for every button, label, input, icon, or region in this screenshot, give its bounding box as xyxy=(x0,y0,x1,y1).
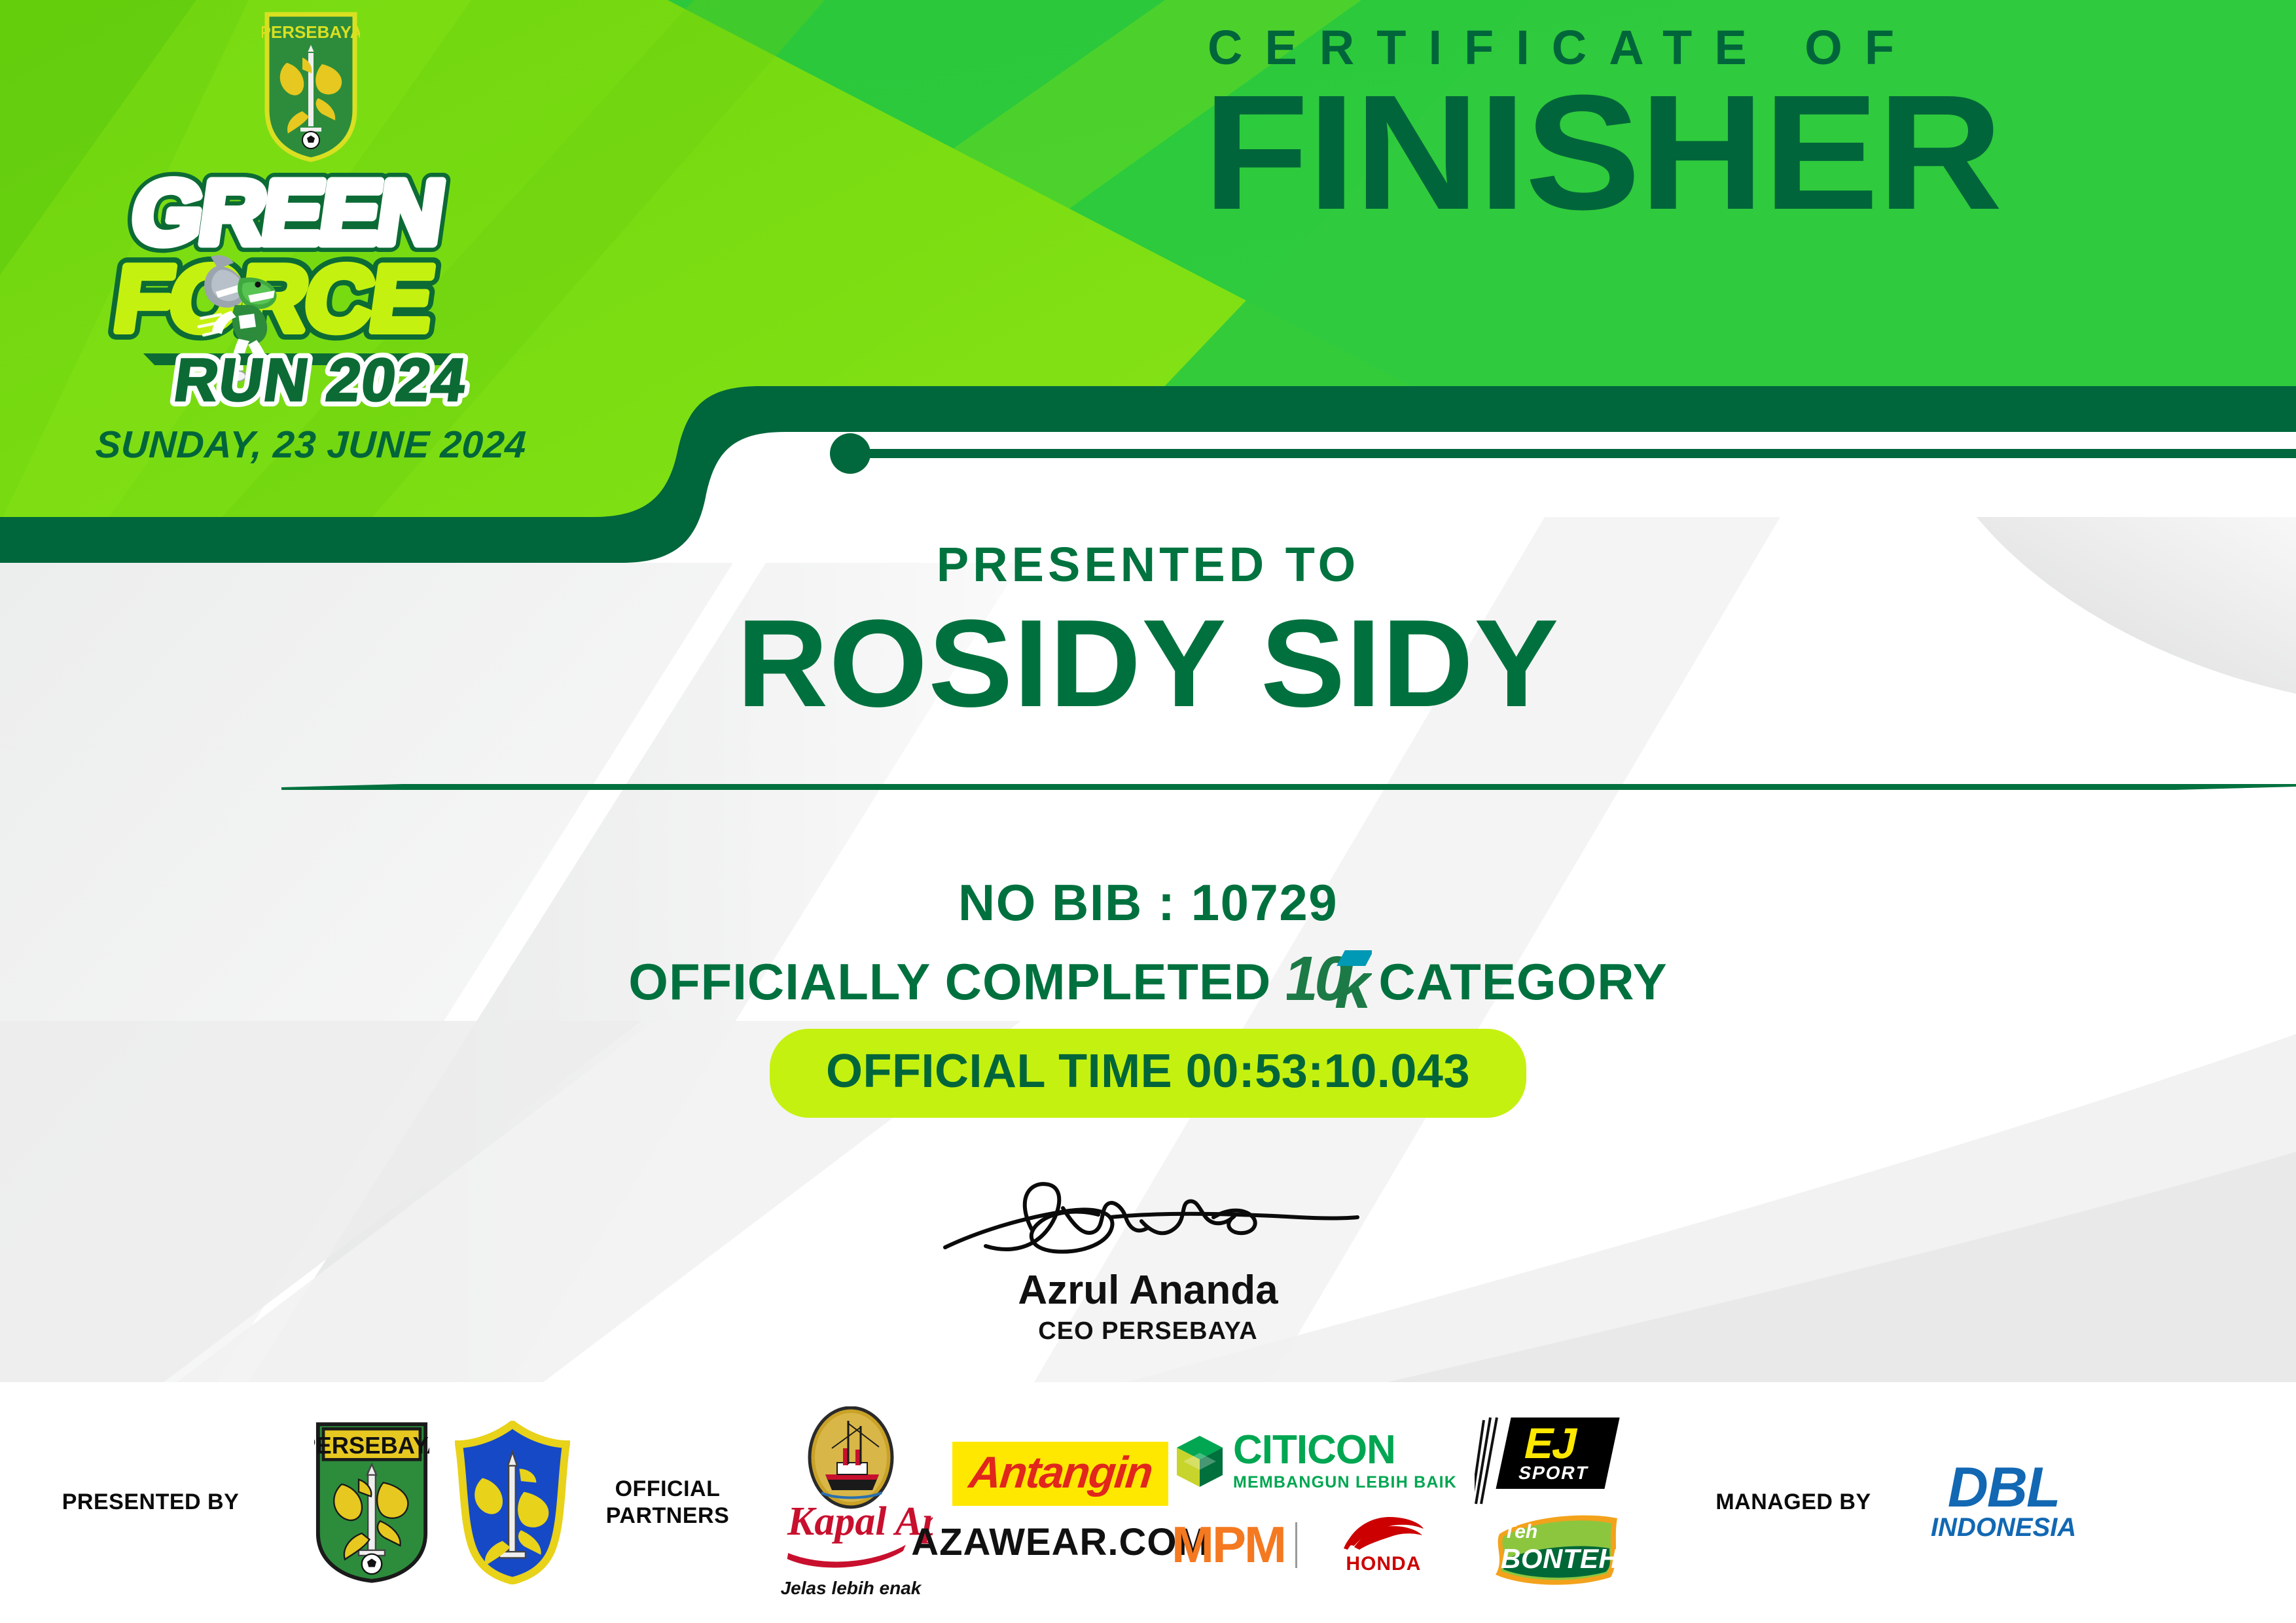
citicon-wordmark: CITICON xyxy=(1233,1430,1457,1471)
green-force-run-logo: GREEN GREEN FORCE FORCE xyxy=(75,157,547,419)
managed-by-label: MANAGED BY xyxy=(1715,1489,1871,1516)
divider xyxy=(1295,1522,1297,1568)
sponsor-ej-bonteh: EJ SPORT Teh BONTEH xyxy=(1460,1418,1656,1587)
ej-wordmark: EJ xyxy=(1521,1424,1599,1463)
presented-by-label: PRESENTED BY xyxy=(62,1489,240,1516)
signatory-title: CEO PERSEBAYA xyxy=(880,1317,1416,1346)
sponsor-persebaya: PERSEBAYA xyxy=(301,1421,442,1584)
bib-number: NO BIB : 10729 xyxy=(0,873,2296,933)
ej-sport-logo-icon: EJ SPORT xyxy=(1503,1418,1612,1489)
svg-text:RUN 2024: RUN 2024 xyxy=(170,346,471,413)
azawear-wordmark: AZAWEAR.COM xyxy=(911,1520,1210,1564)
sponsor-footer: PRESENTED BY PERSEBAYA xyxy=(0,1382,2296,1623)
event-date: SUNDAY, 23 JUNE 2024 xyxy=(61,423,561,467)
honda-logo-icon: HONDA xyxy=(1308,1514,1460,1575)
category-line: OFFICIALLY COMPLETED 10 k CATEGORY xyxy=(0,949,2296,1014)
certificate-body: PRESENTED TO ROSIDY SIDY NO BIB : 10729 … xyxy=(0,517,2296,1381)
surabaya-city-crest-icon xyxy=(455,1421,570,1584)
mpm-honda-logo: MPM HONDA xyxy=(1172,1514,1460,1575)
dbl-indonesia-sub: INDONESIA xyxy=(1931,1513,2076,1543)
citicon-mark-icon xyxy=(1174,1433,1225,1489)
citicon-tagline: MEMBANGUN LEBIH BAIK xyxy=(1233,1473,1457,1492)
teh-bonteh-logo-icon: Teh BONTEH xyxy=(1489,1512,1626,1588)
svg-text:PERSEBAYA: PERSEBAYA xyxy=(314,1432,429,1459)
official-partners-label-slot: OFFICIAL PARTNERS xyxy=(583,1476,753,1530)
official-time-badge: OFFICIAL TIME 00:53:10.043 xyxy=(770,1029,1526,1118)
signature-block: Azrul Ananda CEO PERSEBAYA xyxy=(880,1171,1416,1346)
official-partners-label: OFFICIAL PARTNERS xyxy=(606,1476,730,1530)
certificate-header: CERTIFICATE OF FINISHER PERSEBAYA xyxy=(0,0,2296,576)
signature-icon xyxy=(932,1171,1364,1270)
antangin-wordmark: Antangin xyxy=(967,1447,1155,1498)
managed-by-label-slot: MANAGED BY xyxy=(1656,1489,1931,1516)
bonteh-wordmark: BONTEH xyxy=(1501,1543,1619,1575)
antangin-logo-icon: Antangin xyxy=(952,1442,1169,1506)
sponsor-antangin-azawear: Antangin AZAWEAR.COM xyxy=(949,1442,1172,1564)
finisher-title: FINISHER xyxy=(1203,77,2001,228)
ej-speedlines-icon xyxy=(1475,1415,1501,1507)
honda-wordmark: HONDA xyxy=(1346,1553,1421,1575)
certificate-root: CERTIFICATE OF FINISHER PERSEBAYA xyxy=(0,0,2296,1623)
tenk-badge-icon: 10 k xyxy=(1287,949,1364,1014)
dbl-wordmark: DBL xyxy=(1948,1463,2060,1513)
category-suffix: CATEGORY xyxy=(1378,952,1667,1012)
name-underline-rule xyxy=(281,784,2296,790)
mpm-wordmark: MPM xyxy=(1172,1515,1285,1575)
citicon-logo: CITICON MEMBANGUN LEBIH BAIK xyxy=(1174,1430,1457,1492)
kapal-api-logo-icon: Kapal Api Kapal Api xyxy=(769,1406,933,1577)
persebaya-crest-icon: PERSEBAYA xyxy=(262,12,360,162)
event-logo-block: PERSEBAYA GREEN xyxy=(62,12,560,496)
sponsor-surabaya-city xyxy=(442,1421,583,1584)
decor-rule xyxy=(844,449,2296,458)
ej-sport-sub: SPORT xyxy=(1516,1463,1590,1484)
recipient-name: ROSIDY SIDY xyxy=(0,592,2296,735)
sponsor-citicon-mpm: CITICON MEMBANGUN LEBIH BAIK MPM HONDA xyxy=(1172,1430,1460,1575)
category-prefix: OFFICIALLY COMPLETED xyxy=(628,952,1271,1012)
sponsor-dbl-indonesia: DBL INDONESIA xyxy=(1931,1463,2076,1543)
teh-wordmark: Teh xyxy=(1503,1521,1537,1543)
presented-by-label-slot: PRESENTED BY xyxy=(0,1489,301,1516)
kapal-api-tagline: Jelas lebih enak xyxy=(781,1578,922,1599)
signatory-name: Azrul Ananda xyxy=(880,1267,1416,1313)
persebaya-crest-icon: PERSEBAYA xyxy=(314,1421,429,1584)
sponsor-kapal-api: Kapal Api Kapal Api Jelas lebih enak xyxy=(753,1406,949,1599)
presented-to-label: PRESENTED TO xyxy=(0,537,2296,592)
svg-text:PERSEBAYA: PERSEBAYA xyxy=(262,22,360,42)
